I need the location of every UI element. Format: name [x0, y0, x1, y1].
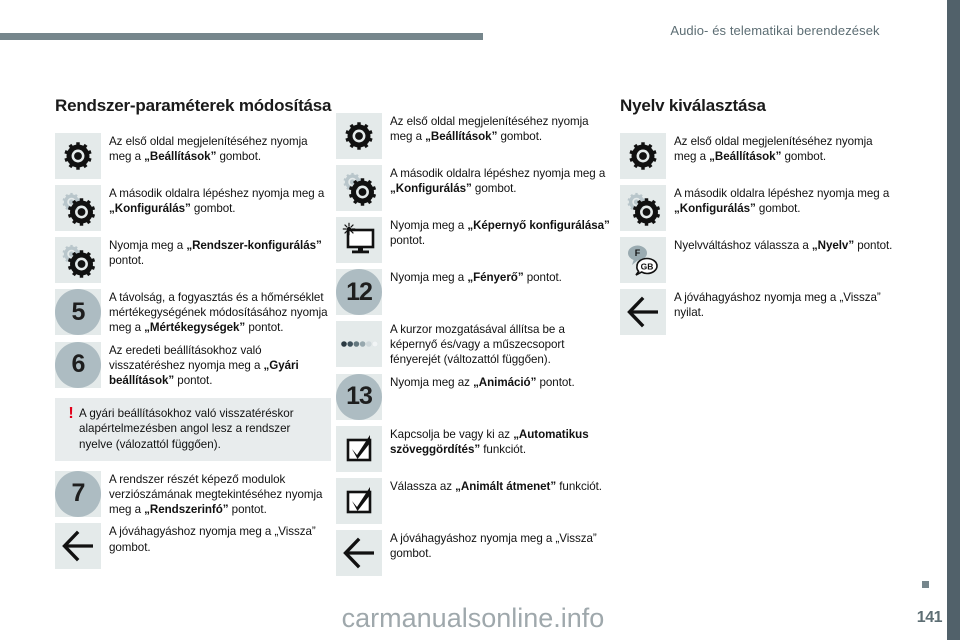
instruction-step-text: A távolság, a fogyasztás és a hőmérsékle… [109, 289, 331, 336]
instruction-step: Nyomja meg a „Képernyő konfigurálása” po… [336, 217, 612, 263]
warning-note: ! A gyári beállításokhoz való visszatéré… [55, 398, 331, 461]
step-number-badge: 12 [336, 269, 382, 315]
gear-double-icon [55, 185, 101, 231]
instruction-step-text: A második oldalra lépéshez nyomja meg a … [390, 165, 612, 196]
steps-list: Az első oldal megjelenítéséhez nyomja me… [620, 133, 896, 335]
instruction-step-text: Nyomja meg a „Képernyő konfigurálása” po… [390, 217, 612, 248]
gear-double-icon [620, 185, 666, 231]
instruction-step: A jóváhagyáshoz nyomja meg a „Vissza” go… [336, 530, 612, 576]
number-badge-icon: 12 [336, 269, 382, 315]
back-arrow-icon [55, 523, 101, 569]
document-page: Audio- és telematikai berendezések Rends… [0, 0, 960, 640]
back-arrow-icon [336, 530, 382, 576]
checkbox-icon [336, 478, 382, 524]
number-badge-icon: 7 [55, 471, 101, 517]
instruction-step: A második oldalra lépéshez nyomja meg a … [55, 185, 331, 231]
instruction-step-text: A rendszer részét képező modulok verziós… [109, 471, 331, 518]
gear-single-icon [336, 113, 382, 159]
instruction-step-text: Nyomja meg a „Rendszer-konfigurálás” pon… [109, 237, 331, 268]
gear-single-icon [55, 133, 101, 179]
instruction-step: 5A távolság, a fogyasztás és a hőmérsékl… [55, 289, 331, 336]
instruction-step-text: Kapcsolja be vagy ki az „Automatikus szö… [390, 426, 612, 457]
steps-list: Az első oldal megjelenítéséhez nyomja me… [336, 113, 612, 576]
instruction-step-text: Nyelvváltáshoz válassza a „Nyelv” pontot… [674, 237, 896, 253]
step-number-badge: 6 [55, 342, 101, 388]
column-title: Nyelv kiválasztása [620, 96, 896, 116]
instruction-step-text: Az első oldal megjelenítéséhez nyomja me… [674, 133, 896, 164]
instruction-step: Az első oldal megjelenítéséhez nyomja me… [336, 113, 612, 159]
instruction-step: 7A rendszer részét képező modulok verzió… [55, 471, 331, 518]
instruction-step: A kurzor mozgatásával állítsa be a képer… [336, 321, 612, 368]
svg-text:F: F [635, 248, 641, 258]
instruction-step-text: A jóváhagyáshoz nyomja meg a „Vissza” go… [390, 530, 612, 561]
instruction-step: Nyomja meg a „Rendszer-konfigurálás” pon… [55, 237, 331, 283]
gear-double-icon [336, 165, 382, 211]
instruction-step: Az első oldal megjelenítéséhez nyomja me… [620, 133, 896, 179]
footer-square-marker [922, 581, 929, 588]
steps-list: Az első oldal megjelenítéséhez nyomja me… [55, 133, 331, 388]
warning-icon: ! [63, 406, 79, 421]
watermark: carmanualsonline.info [0, 603, 960, 634]
instruction-step-text: Nyomja meg a „Fényerő” pontot. [390, 269, 612, 285]
header-rule [0, 33, 483, 40]
step-number-badge: 7 [55, 471, 101, 517]
column-language-selection: Nyelv kiválasztása Az első oldal megjele… [620, 96, 896, 341]
instruction-step: Válassza az „Animált átmenet” funkciót. [336, 478, 612, 524]
instruction-step: Kapcsolja be vagy ki az „Automatikus szö… [336, 426, 612, 472]
instruction-step: 6Az eredeti beállításokhoz való visszaté… [55, 342, 331, 389]
gear-double-icon [55, 237, 101, 283]
instruction-step: A második oldalra lépéshez nyomja meg a … [336, 165, 612, 211]
number-badge-icon: 5 [55, 289, 101, 335]
instruction-step-text: Az eredeti beállításokhoz való visszatér… [109, 342, 331, 389]
step-number-badge: 5 [55, 289, 101, 335]
instruction-step-text: Nyomja meg az „Animáció” pontot. [390, 374, 612, 390]
screen-icon [336, 217, 382, 263]
instruction-step-text: A jóváhagyáshoz nyomja meg a „Vissza” go… [109, 523, 331, 554]
instruction-step-text: A második oldalra lépéshez nyomja meg a … [109, 185, 331, 216]
instruction-step: A második oldalra lépéshez nyomja meg a … [620, 185, 896, 231]
steps-list-after-note: 7A rendszer részét képező modulok verzió… [55, 471, 331, 570]
column-system-parameters: Rendszer-paraméterek módosítása Az első … [55, 96, 331, 575]
warning-note-text: A gyári beállításokhoz való visszatérésk… [79, 406, 321, 452]
brightness-dots-icon [336, 321, 382, 367]
svg-text:GB: GB [641, 262, 654, 272]
back-arrow-icon [620, 289, 666, 335]
instruction-step-text: A kurzor mozgatásával állítsa be a képer… [390, 321, 612, 368]
instruction-step-text: Válassza az „Animált átmenet” funkciót. [390, 478, 612, 494]
header-title: Audio- és telematikai berendezések [620, 23, 930, 38]
instruction-step: 13Nyomja meg az „Animáció” pontot. [336, 374, 612, 420]
number-badge-icon: 13 [336, 374, 382, 420]
column-screen-settings: Az első oldal megjelenítéséhez nyomja me… [336, 96, 612, 582]
column-title: Rendszer-paraméterek módosítása [55, 96, 331, 116]
language-bubbles-icon: FGB [620, 237, 666, 283]
right-edge-bar [947, 0, 960, 640]
number-badge-icon: 6 [55, 342, 101, 388]
instruction-step: A jóváhagyáshoz nyomja meg a „Vissza” go… [55, 523, 331, 569]
instruction-step: 12Nyomja meg a „Fényerő” pontot. [336, 269, 612, 315]
instruction-step-text: Az első oldal megjelenítéséhez nyomja me… [390, 113, 612, 144]
instruction-step: FGBNyelvváltáshoz válassza a „Nyelv” pon… [620, 237, 896, 283]
checkbox-icon [336, 426, 382, 472]
instruction-step: A jóváhagyáshoz nyomja meg a „Vissza” ny… [620, 289, 896, 335]
step-number-badge: 13 [336, 374, 382, 420]
instruction-step: Az első oldal megjelenítéséhez nyomja me… [55, 133, 331, 179]
instruction-step-text: Az első oldal megjelenítéséhez nyomja me… [109, 133, 331, 164]
instruction-step-text: A második oldalra lépéshez nyomja meg a … [674, 185, 896, 216]
instruction-step-text: A jóváhagyáshoz nyomja meg a „Vissza” ny… [674, 289, 896, 320]
gear-single-icon [620, 133, 666, 179]
